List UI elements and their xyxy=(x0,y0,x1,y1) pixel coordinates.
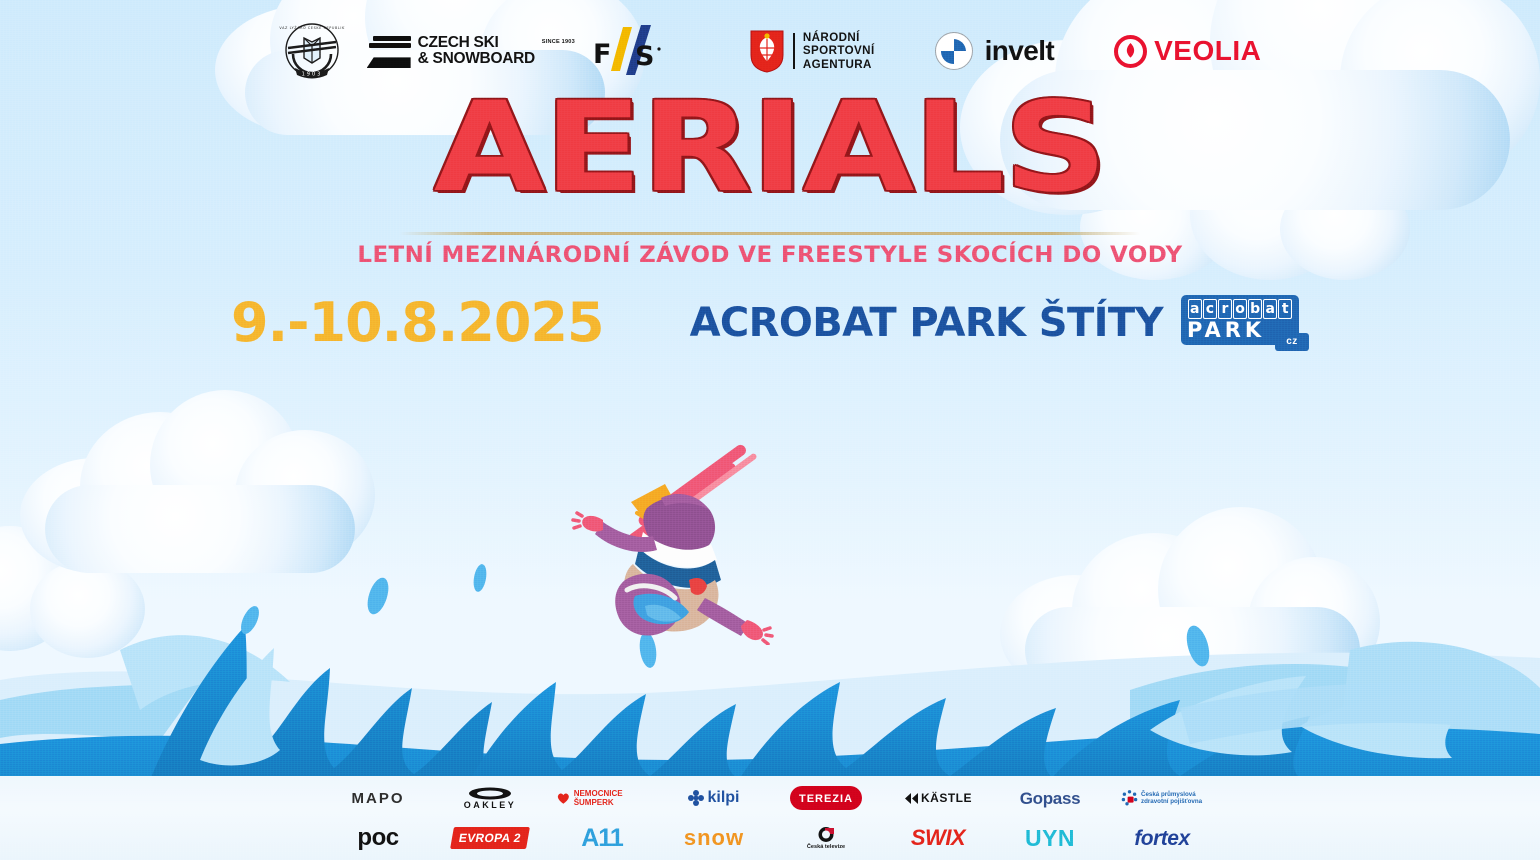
veolia-logo: VEOLIA xyxy=(1114,35,1261,68)
acrobat-park-letters: a c r o b a t xyxy=(1188,299,1292,319)
ap-letter-o: o xyxy=(1233,299,1247,319)
sponsor-snow: SNOW xyxy=(668,819,760,857)
svg-text:F: F xyxy=(593,39,611,70)
czech-coat-of-arms-icon xyxy=(749,29,785,73)
czech-ski-mark-icon xyxy=(367,34,411,68)
freestyle-aerial-skier xyxy=(565,420,780,645)
sponsor-kilpi: kilpi xyxy=(668,779,760,817)
acrobat-park-cz-badge: cz xyxy=(1275,333,1309,351)
sponsor-cpzp: Česká průmyslová zdravotní pojišťovna xyxy=(1116,779,1208,817)
sponsor-uyn-label: UYN xyxy=(1025,827,1075,850)
ap-letter-a2: a xyxy=(1263,299,1277,319)
nsa-line3: AGENTURA xyxy=(803,58,875,72)
sponsor-a11: A11 xyxy=(556,819,648,857)
sponsor-poc: poc xyxy=(332,819,424,857)
czech-ski-since: SINCE 1903 xyxy=(542,34,575,51)
sponsor-oakley-label: OAKLEY xyxy=(464,801,517,810)
svg-text:S: S xyxy=(635,41,654,72)
page-title: AERIALS xyxy=(0,92,1540,204)
sponsor-kastle-label: KÄSTLE xyxy=(921,792,972,804)
heart-icon xyxy=(556,789,571,807)
oakley-ellipse-icon xyxy=(468,787,512,800)
cpzp-burst-icon xyxy=(1121,790,1138,807)
svaz-lyzaru-logo: 1903 SVAZ LYŽAŘŮ ČESKÉ REPUBLIKY xyxy=(279,18,345,84)
bmw-roundel-icon xyxy=(935,32,973,70)
sponsor-snow-label: SNOW xyxy=(684,827,744,849)
footer-sponsor-bar: MAPO OAKLEY NEMOCNICE ŠUMPERK kilpi xyxy=(0,776,1540,860)
title-divider xyxy=(400,232,1140,235)
svg-text:SVAZ LYŽAŘŮ ČESKÉ REPUBLIKY: SVAZ LYŽAŘŮ ČESKÉ REPUBLIKY xyxy=(279,25,345,30)
footer-sponsor-grid: MAPO OAKLEY NEMOCNICE ŠUMPERK kilpi xyxy=(332,779,1208,857)
sponsor-mapo-label: MAPO xyxy=(352,791,405,806)
ceska-televize-icon xyxy=(816,826,836,843)
fis-logo: F S xyxy=(589,23,669,79)
sponsor-evropa2-label: EVROPA 2 xyxy=(458,831,522,845)
kastle-chevron-icon xyxy=(904,793,919,804)
kilpi-flower-icon xyxy=(688,790,704,806)
ap-letter-c: c xyxy=(1203,299,1217,319)
sponsor-mapo: MAPO xyxy=(332,779,424,817)
sponsor-ceska-televize: Česká televize xyxy=(780,819,872,857)
sponsor-gopass-label: Gopass xyxy=(1020,790,1081,807)
sponsor-terezia-label: TEREZIA xyxy=(799,793,853,805)
sponsor-uyn: UYN xyxy=(1004,819,1096,857)
ap-letter-b: b xyxy=(1248,299,1262,319)
ap-letter-t: t xyxy=(1278,299,1292,319)
ap-letter-a1: a xyxy=(1188,299,1202,319)
sponsor-swix-label: SWIX xyxy=(911,827,965,849)
sponsor-terezia: TEREZIA xyxy=(780,779,872,817)
sponsor-swix: SWIX xyxy=(892,819,984,857)
nsa-line2: SPORTOVNÍ xyxy=(803,44,875,58)
veolia-mark-icon xyxy=(1114,35,1147,68)
sponsor-a11-label: A11 xyxy=(581,826,622,851)
fis-mark-icon: F S xyxy=(589,23,669,79)
sponsor-evropa2: EVROPA 2 xyxy=(444,819,536,857)
sponsor-ceska-televize-label: Česká televize xyxy=(807,844,845,850)
sponsor-fortex-label: fortex xyxy=(1134,828,1189,849)
invelt-logo: invelt xyxy=(935,32,1055,70)
svaz-lyzaru-emblem-icon: 1903 SVAZ LYŽAŘŮ ČESKÉ REPUBLIKY xyxy=(279,18,345,84)
invelt-wordmark: invelt xyxy=(985,35,1055,67)
sponsor-kilpi-label: kilpi xyxy=(707,790,739,806)
event-date: 9.-10.8.2025 xyxy=(231,291,604,354)
czech-ski-line1: CZECH SKI xyxy=(418,35,535,52)
venue-group: ACROBAT PARK ŠTÍTY a c r o b a t PARK cz xyxy=(690,295,1309,351)
date-and-venue-row: 9.-10.8.2025 ACROBAT PARK ŠTÍTY a c r o … xyxy=(0,291,1540,354)
sponsor-kastle: KÄSTLE xyxy=(892,779,984,817)
narodni-sportovni-agentura-logo: NÁRODNÍ SPORTOVNÍ AGENTURA xyxy=(749,29,875,73)
poster-subtitle: LETNÍ MEZINÁRODNÍ ZÁVOD VE FREESTYLE SKO… xyxy=(0,242,1540,268)
czech-ski-line2: & SNOWBOARD xyxy=(418,51,535,68)
czech-ski-snowboard-logo: CZECH SKI & SNOWBOARD SINCE 1903 xyxy=(367,34,535,68)
top-sponsor-row: 1903 SVAZ LYŽAŘŮ ČESKÉ REPUBLIKY CZECH S… xyxy=(0,18,1540,84)
sponsor-cpzp-label: Česká průmyslová zdravotní pojišťovna xyxy=(1141,791,1203,806)
sponsor-poc-label: poc xyxy=(357,826,398,850)
nsa-divider xyxy=(793,33,795,69)
right-arm xyxy=(697,598,772,644)
sponsor-gopass: Gopass xyxy=(1004,779,1096,817)
ap-letter-r: r xyxy=(1218,299,1232,319)
sponsor-fortex: fortex xyxy=(1116,819,1208,857)
venue-name: ACROBAT PARK ŠTÍTY xyxy=(690,300,1163,346)
sponsor-oakley: OAKLEY xyxy=(444,779,536,817)
veolia-wordmark: VEOLIA xyxy=(1154,35,1261,67)
nsa-wordmark: NÁRODNÍ SPORTOVNÍ AGENTURA xyxy=(803,31,875,72)
aerials-poster: 1903 SVAZ LYŽAŘŮ ČESKÉ REPUBLIKY CZECH S… xyxy=(0,0,1540,860)
acrobat-park-logo: a c r o b a t PARK cz xyxy=(1181,295,1309,351)
svg-text:1903: 1903 xyxy=(301,72,322,78)
sponsor-nemocnice-sumperk: NEMOCNICE ŠUMPERK xyxy=(556,779,648,817)
sponsor-nemocnice-sumperk-label: NEMOCNICE ŠUMPERK xyxy=(574,789,648,807)
czech-ski-wordmark: CZECH SKI & SNOWBOARD SINCE 1903 xyxy=(418,35,535,68)
nsa-line1: NÁRODNÍ xyxy=(803,31,875,45)
